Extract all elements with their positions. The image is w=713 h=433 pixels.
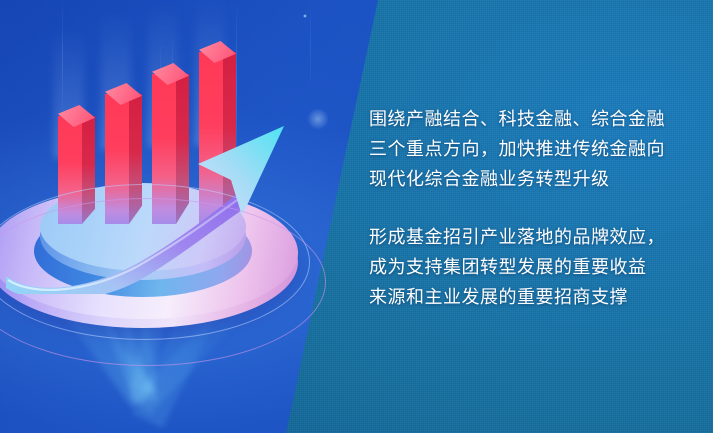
paragraph-one-line-1: 围绕产融结合、科技金融、综合金融 (369, 109, 665, 129)
paragraph-one-line-3: 现代化综合金融业务转型升级 (369, 169, 610, 189)
paragraph-two-line-2: 成为支持集团转型发展的重要收益 (369, 257, 647, 277)
banner-stage: 围绕产融结合、科技金融、综合金融 三个重点方向，加快推进传统金融向 现代化综合金… (0, 0, 713, 433)
paragraph-two-line-1: 形成基金招引产业落地的品牌效应， (369, 227, 665, 247)
paragraph-one-line-2: 三个重点方向，加快推进传统金融向 (369, 139, 665, 159)
paragraph-two-line-3: 来源和主业发展的重要招商支撑 (369, 287, 628, 307)
banner-copy: 围绕产融结合、科技金融、综合金融 三个重点方向，加快推进传统金融向 现代化综合金… (369, 104, 689, 312)
paragraph-two: 形成基金招引产业落地的品牌效应， 成为支持集团转型发展的重要收益 来源和主业发展… (369, 222, 689, 312)
paragraph-one: 围绕产融结合、科技金融、综合金融 三个重点方向，加快推进传统金融向 现代化综合金… (369, 104, 689, 194)
growth-chart-illustration (0, 88, 332, 348)
